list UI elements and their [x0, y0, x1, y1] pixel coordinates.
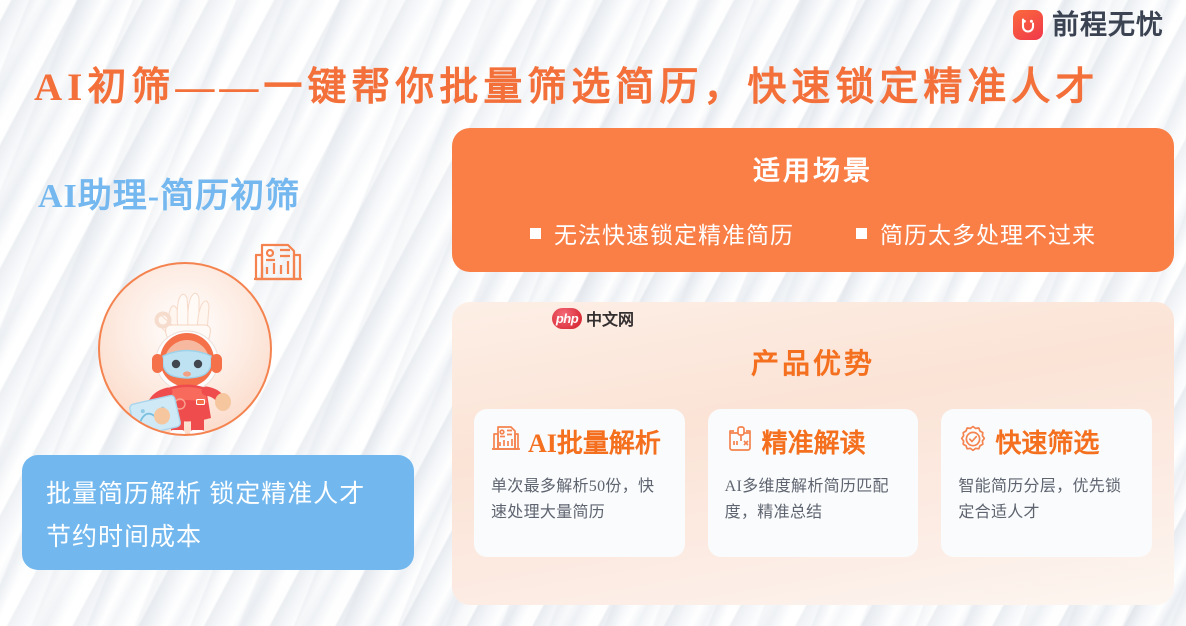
watermark-text: 中文网 [586, 306, 634, 330]
tagline-box: 批量简历解析 锁定精准人才 节约时间成本 [22, 455, 414, 570]
php-badge-icon: php [552, 308, 582, 329]
square-bullet-icon [530, 228, 541, 239]
scenario-item-label: 无法快速锁定精准简历 [554, 216, 794, 250]
advantages-title: 产品优势 [452, 342, 1174, 382]
gear-check-icon [958, 424, 988, 459]
advantage-card-list: AI批量解析 单次最多解析50份，快速处理大量简历 [452, 409, 1174, 557]
page-subtitle: AI助理-简历初筛 [38, 168, 300, 217]
advantage-card: 快速筛选 智能简历分层，优先锁定合适人才 [941, 409, 1152, 557]
brand-logo: 前程无忧 [1013, 10, 1164, 40]
brand-name: 前程无忧 [1052, 12, 1164, 39]
clipboard-hand-icon [725, 424, 755, 459]
card-body: 单次最多解析50份，快速处理大量简历 [491, 474, 669, 526]
tagline-line-1: 批量简历解析 锁定精准人才 [46, 473, 392, 516]
card-header: AI批量解析 [491, 423, 669, 460]
tagline-line-2: 节约时间成本 [46, 516, 392, 559]
advantage-card: AI批量解析 单次最多解析50份，快速处理大量简历 [474, 409, 685, 557]
scenario-item: 无法快速锁定精准简历 [530, 216, 794, 250]
card-title: 快速筛选 [995, 423, 1099, 460]
advantages-panel: php 中文网 产品优势 [452, 302, 1174, 605]
card-header: 快速筛选 [958, 423, 1136, 460]
scenario-item: 简历太多处理不过来 [856, 216, 1096, 250]
poster-canvas: 前程无忧 AI初筛——一键帮你批量筛选简历，快速锁定精准人才 AI助理-简历初筛 [0, 0, 1186, 626]
page-title: AI初筛——一键帮你批量筛选简历，快速锁定精准人才 [34, 56, 1099, 112]
card-title: 精准解读 [762, 423, 866, 460]
card-title: AI批量解析 [528, 423, 661, 460]
resume-chart-icon [252, 237, 304, 290]
scenario-item-list: 无法快速锁定精准简历 简历太多处理不过来 [452, 216, 1174, 250]
card-body: AI多维度解析简历匹配度，精准总结 [725, 474, 903, 526]
php-watermark: php 中文网 [552, 306, 634, 330]
square-bullet-icon [856, 228, 867, 239]
scenario-panel: 适用场景 无法快速锁定精准简历 简历太多处理不过来 [452, 128, 1174, 272]
card-header: 精准解读 [725, 423, 903, 460]
scenario-title: 适用场景 [452, 149, 1174, 188]
advantage-card: 精准解读 AI多维度解析简历匹配度，精准总结 [708, 409, 919, 557]
51job-smiley-icon [1013, 10, 1043, 40]
astronaut-mascot-illustration [98, 262, 272, 436]
document-barchart-icon [491, 424, 521, 459]
card-body: 智能简历分层，优先锁定合适人才 [958, 474, 1136, 526]
scenario-item-label: 简历太多处理不过来 [880, 216, 1096, 250]
